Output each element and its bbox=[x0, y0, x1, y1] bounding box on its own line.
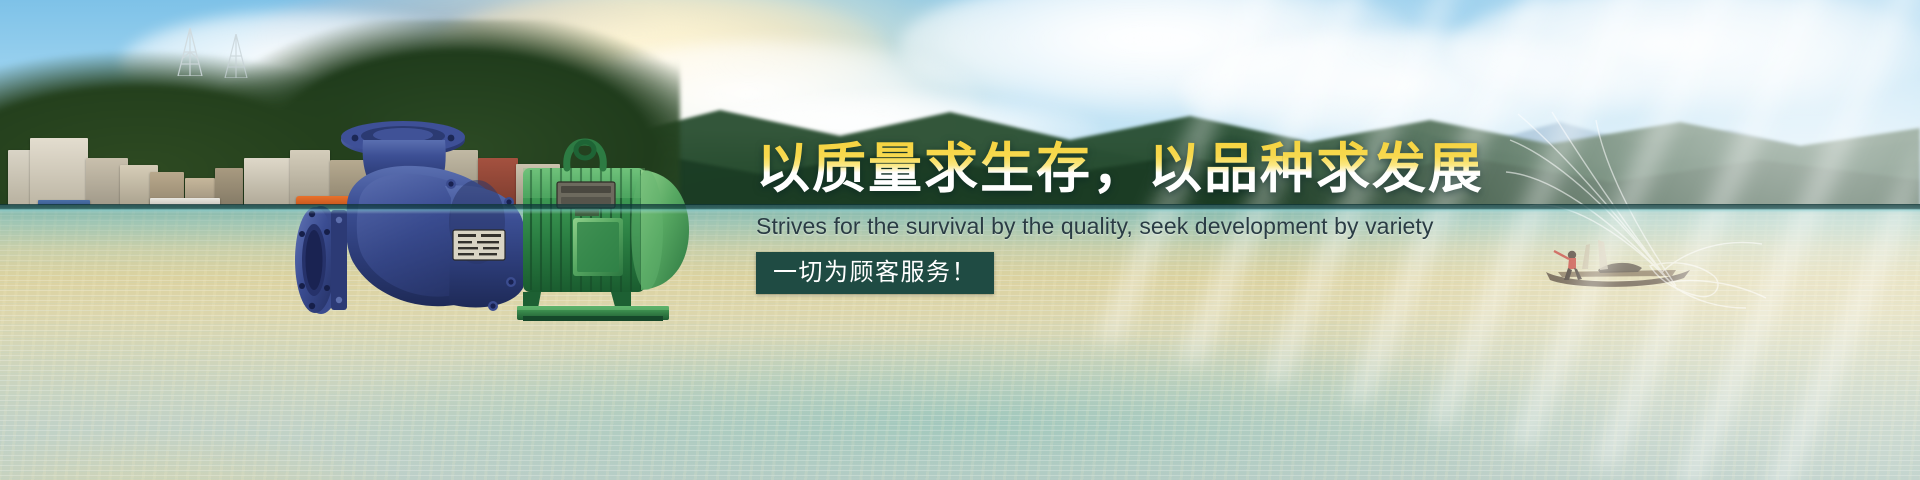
banner-copy: 以质量求生存，以品种求发展 Strives for the survival b… bbox=[756, 138, 1756, 294]
banner-slogan-badge: 一切为顾客服务！ bbox=[756, 252, 994, 294]
power-pylon bbox=[170, 28, 210, 76]
power-pylon bbox=[218, 34, 254, 78]
banner-subtitle: Strives for the survival by the quality,… bbox=[756, 211, 1756, 241]
banner-headline: 以质量求生存，以品种求发展 bbox=[756, 138, 1756, 200]
centrifugal-pump-product-image bbox=[255, 110, 695, 325]
hero-banner: 以质量求生存，以品种求发展 Strives for the survival b… bbox=[0, 0, 1920, 480]
